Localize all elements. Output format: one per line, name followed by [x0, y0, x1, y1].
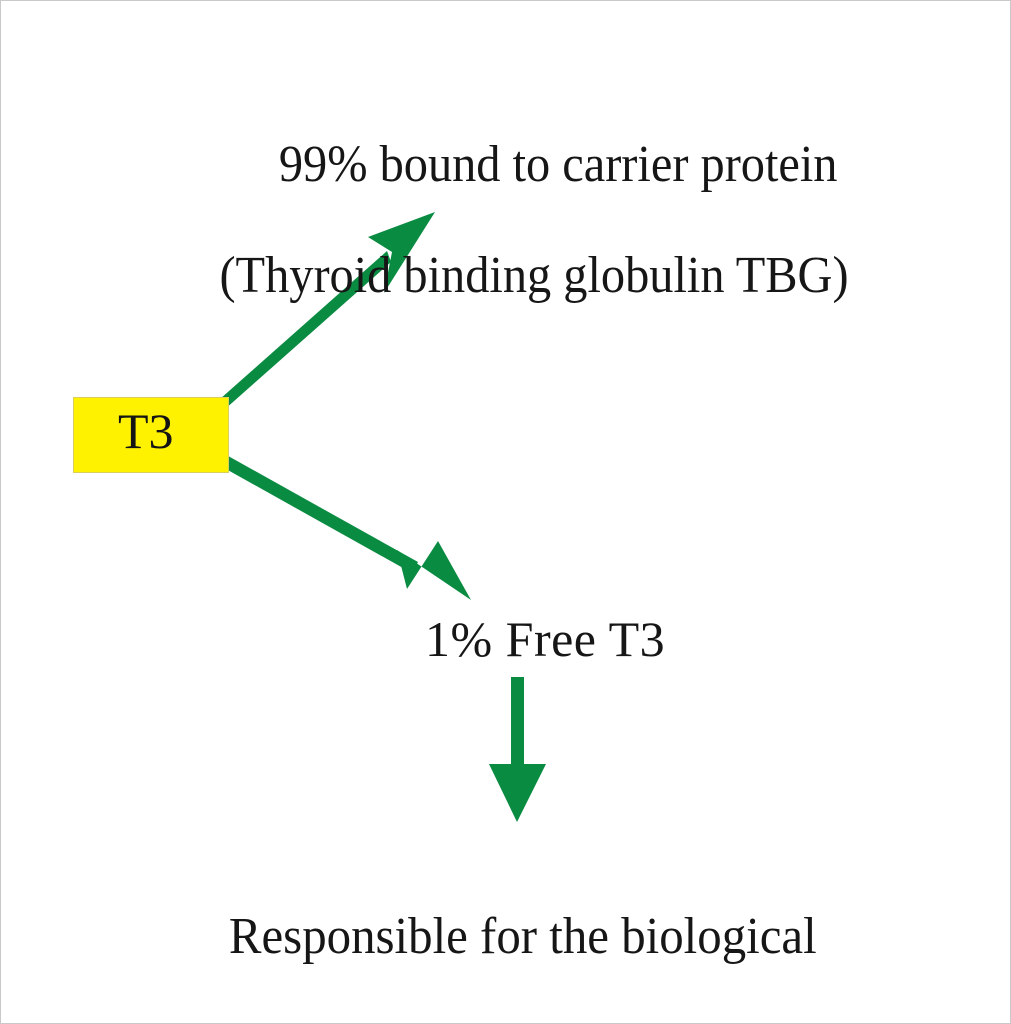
arrow-free-to-function [489, 677, 546, 822]
t3-node-label: T3 [118, 406, 174, 456]
free-t3-label: 1% Free T3 [425, 613, 665, 667]
caption-bound-line1: 99% bound to carrier protein [279, 136, 838, 193]
diagram-canvas: 99% bound to carrier protein (Thyroid bi… [0, 0, 1011, 1024]
caption-bound-line2: (Thyroid binding globulin TBG) [134, 248, 934, 304]
caption-function-line1: Responsible for the biological [229, 908, 817, 965]
caption-bound-protein: 99% bound to carrier protein (Thyroid bi… [134, 81, 934, 415]
t3-node[interactable]: T3 [73, 397, 229, 473]
arrow-t3-to-free [217, 452, 471, 600]
caption-biological-function: Responsible for the biological Function [180, 839, 876, 1024]
